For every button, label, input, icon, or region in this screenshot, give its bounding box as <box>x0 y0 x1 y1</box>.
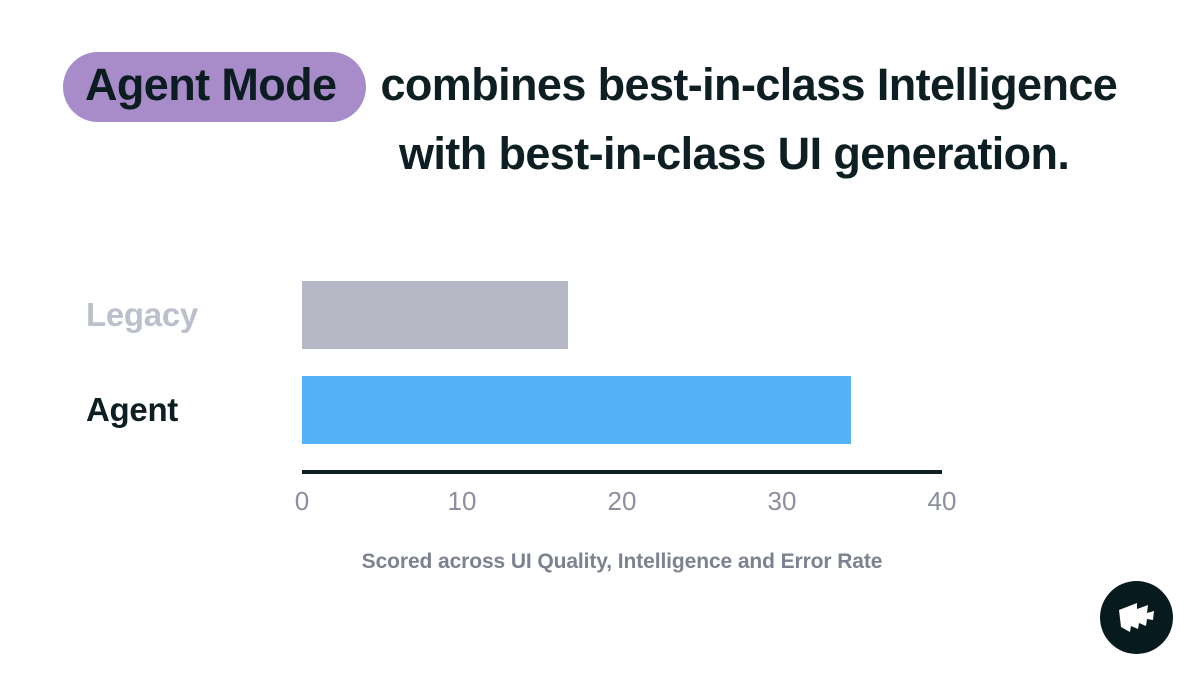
headline: Agent Modecombines best-in-class Intelli… <box>63 52 1153 186</box>
bar-legacy <box>302 281 568 349</box>
x-axis-line <box>302 470 942 474</box>
bar-agent <box>302 376 851 444</box>
agent-mode-pill: Agent Mode <box>63 52 366 122</box>
chart-row-legacy: Legacy <box>0 281 1200 349</box>
headline-line-1: Agent Modecombines best-in-class Intelli… <box>63 52 1153 122</box>
headline-line-1-text: combines best-in-class Intelligence <box>380 59 1117 110</box>
brand-logo[interactable] <box>1100 581 1173 654</box>
x-tick-40: 40 <box>928 486 957 517</box>
chart-caption: Scored across UI Quality, Intelligence a… <box>0 550 1200 574</box>
bar-chart: Legacy Agent 010203040 Scored across UI … <box>0 260 1200 590</box>
x-tick-0: 0 <box>295 486 309 517</box>
headline-line-2: with best-in-class UI generation. <box>63 122 1153 186</box>
x-tick-30: 30 <box>768 486 797 517</box>
slide-canvas: Agent Modecombines best-in-class Intelli… <box>0 0 1200 675</box>
x-tick-20: 20 <box>608 486 637 517</box>
flag-mark-icon <box>1117 601 1157 635</box>
bar-track-legacy <box>302 281 942 349</box>
x-axis-ticks: 010203040 <box>302 486 942 522</box>
bar-track-agent <box>302 376 942 444</box>
chart-row-agent: Agent <box>0 376 1200 444</box>
x-tick-10: 10 <box>448 486 477 517</box>
